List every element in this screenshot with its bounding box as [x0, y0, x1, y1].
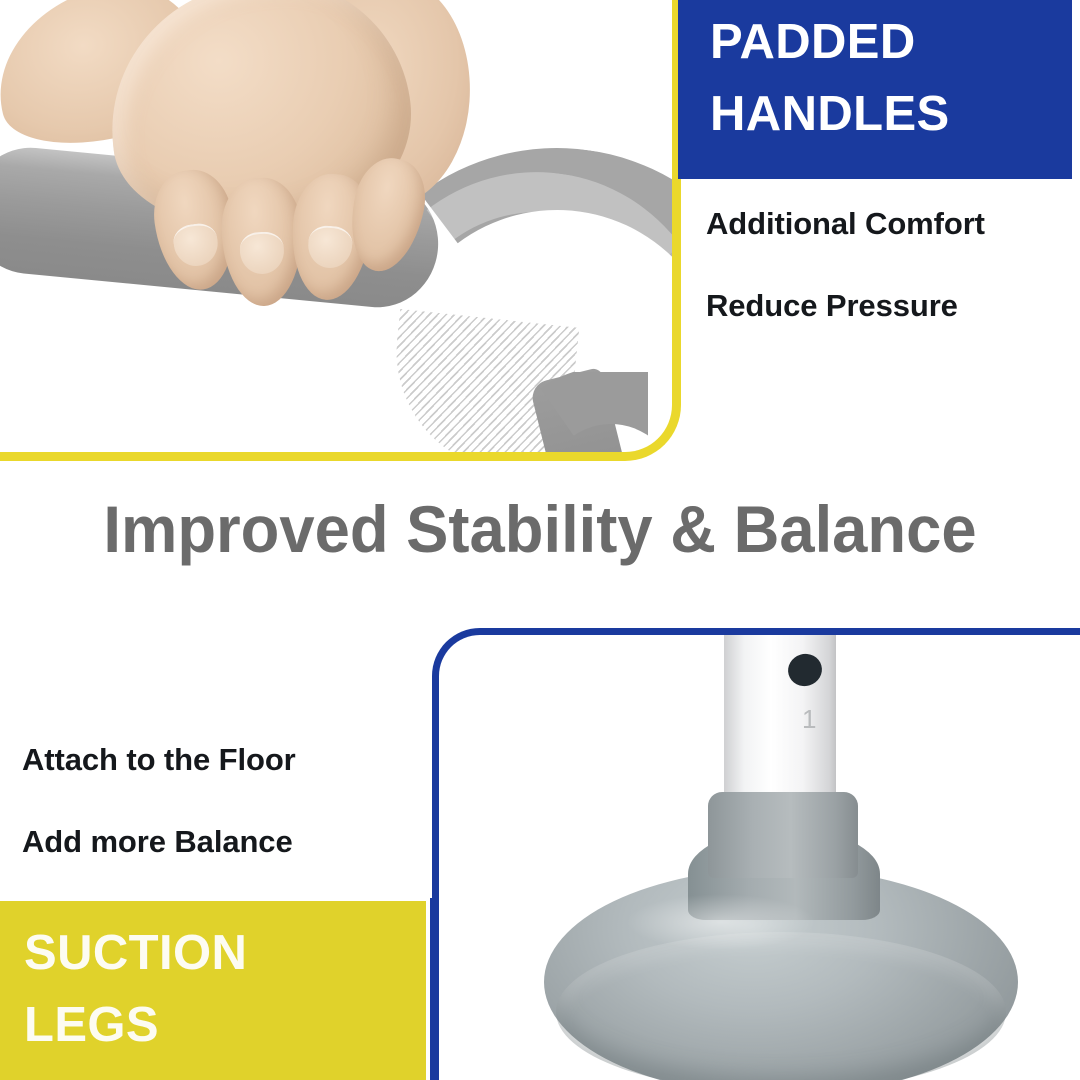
bullet-add-more-balance: Add more Balance: [22, 824, 442, 860]
padded-handle-photo: [0, 0, 672, 452]
suction-legs-bullets: Attach to the Floor Add more Balance: [22, 742, 442, 906]
blue-vertical-divider: [430, 898, 437, 1080]
padded-handles-banner-line2: HANDLES: [710, 90, 950, 139]
padded-handles-bullets: Additional Comfort Reduce Pressure: [706, 206, 1076, 370]
tube-marking-number: 1: [802, 704, 816, 735]
bullet-reduce-pressure: Reduce Pressure: [706, 288, 1076, 324]
suction-cup-highlight: [626, 894, 816, 950]
suction-legs-banner-line2: LEGS: [24, 1001, 159, 1050]
suction-legs-banner-line1: SUCTION: [24, 929, 247, 978]
page-headline: Improved Stability & Balance: [22, 496, 1059, 562]
suction-leg-photo: 1: [436, 632, 1080, 1080]
hand-grip: [0, 0, 430, 312]
padded-handles-banner-line1: PADDED: [710, 18, 916, 67]
bullet-additional-comfort: Additional Comfort: [706, 206, 1076, 242]
padded-handles-banner: PADDED HANDLES: [678, 0, 1072, 179]
suction-legs-banner: SUCTION LEGS: [0, 901, 426, 1080]
bullet-attach-to-floor: Attach to the Floor: [22, 742, 442, 778]
infographic-canvas: PADDED HANDLES Additional Comfort Reduce…: [0, 0, 1080, 1080]
suction-cup-rim: [556, 932, 1006, 1080]
suction-cup-collar: [708, 792, 858, 878]
